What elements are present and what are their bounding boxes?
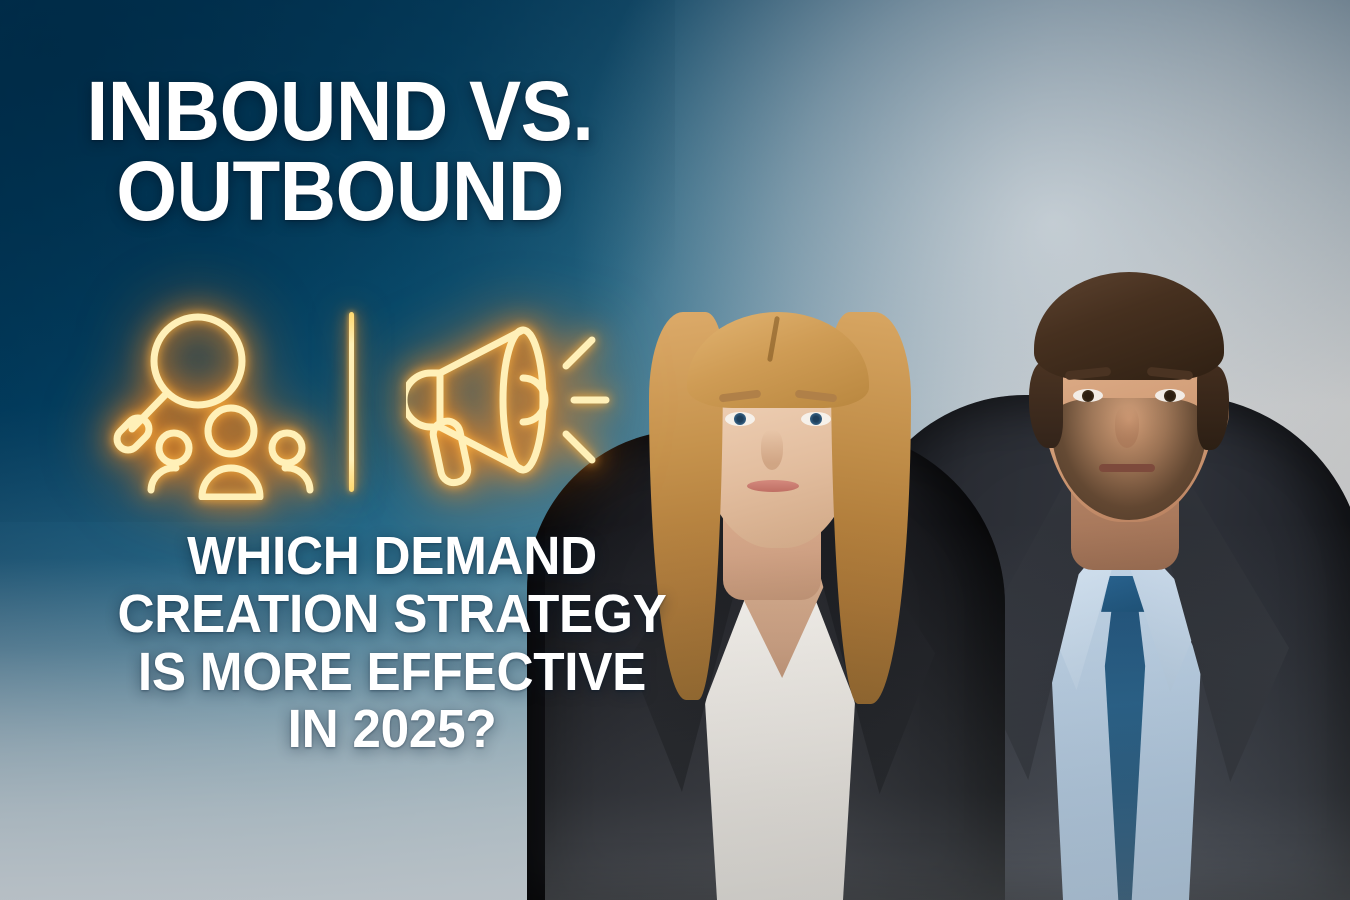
man-iris-right [1164,390,1176,402]
page-subtitle: WHICH DEMAND CREATION STRATEGY IS MORE E… [69,528,715,759]
megaphone-icon [406,316,621,494]
woman-eye-left [725,412,755,426]
poster-canvas: INBOUND VS. OUTBOUND WHICH DEMAND CR [0,0,1350,900]
woman-nose [761,430,783,470]
man-mouth [1099,464,1155,472]
woman-iris-left [734,413,746,425]
man-eye-right [1155,389,1185,402]
vertical-divider-icon [349,312,354,492]
man-nose [1115,406,1139,448]
woman-mouth [747,480,799,492]
people-photo-group [545,0,1350,900]
man-eye-left [1073,389,1103,402]
magnifier-people-icon [106,305,331,500]
page-title: INBOUND VS. OUTBOUND [80,72,601,232]
man-hair [1034,272,1224,380]
neon-icon-row [96,300,636,510]
woman-eye-right [801,412,831,426]
man-iris-left [1082,390,1094,402]
woman-iris-right [810,413,822,425]
